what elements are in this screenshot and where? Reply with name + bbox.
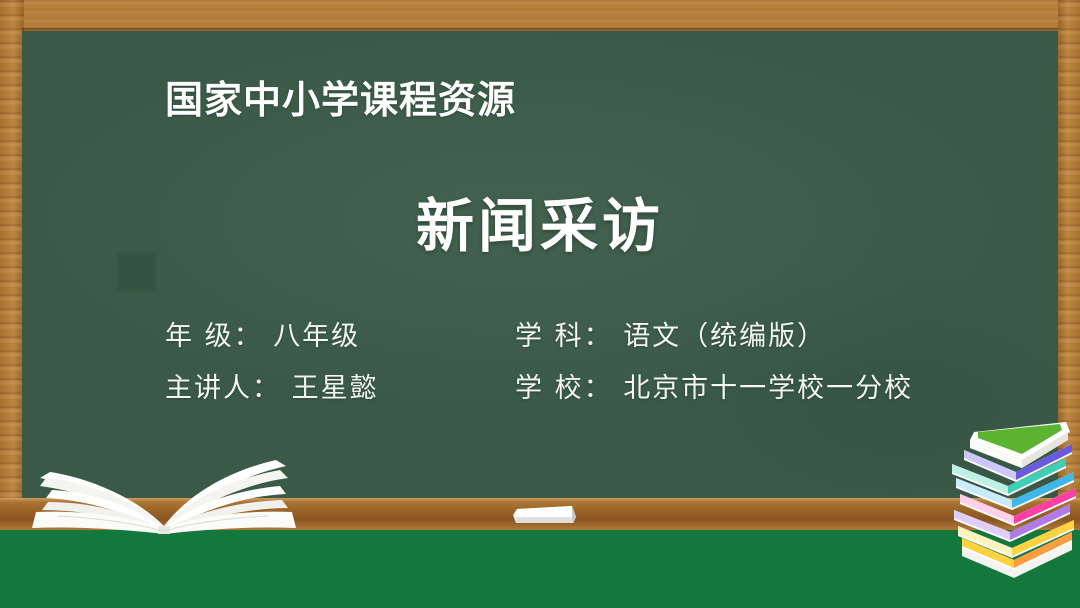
meta-grade: 年 级： 八年级 <box>165 311 515 363</box>
open-book-illustration <box>18 438 308 534</box>
meta-row-lecturer-school: 主讲人： 王星懿 学 校： 北京市十一学校一分校 <box>165 363 1025 415</box>
meta-subject-label: 学 <box>515 311 544 363</box>
meta-school-value: 北京市十一学校一分校 <box>623 373 913 404</box>
meta-grade-value: 八年级 <box>273 321 360 352</box>
stacked-books-illustration <box>948 418 1080 580</box>
meta-subject-value: 语文（统编版） <box>623 321 826 352</box>
meta-lecturer: 主讲人： 王星懿 <box>165 363 515 415</box>
course-meta-block: 年 级： 八年级 学 科： 语文（统编版） 主讲人： 王星懿 <box>165 311 1025 415</box>
meta-grade-label: 年 <box>165 311 194 363</box>
meta-grade-label-tail: 级： <box>205 321 263 352</box>
page-title: 新闻采访 <box>22 179 1058 263</box>
meta-school: 学 校： 北京市十一学校一分校 <box>515 363 1025 415</box>
brand-heading: 国家中小学课程资源 <box>165 69 516 124</box>
meta-lecturer-value: 王星懿 <box>292 373 379 404</box>
meta-school-label-tail: 校： <box>555 373 613 404</box>
chalkboard-surface: 国家中小学课程资源 新闻采访 年 级： 八年级 学 科： 语文（统编版） <box>22 31 1058 501</box>
meta-school-label: 学 <box>515 363 544 415</box>
presentation-slide: 国家中小学课程资源 新闻采访 年 级： 八年级 学 科： 语文（统编版） <box>0 0 1080 608</box>
meta-lecturer-label: 主讲人： <box>165 363 281 415</box>
bottom-green-band <box>0 530 1080 608</box>
meta-row-grade-subject: 年 级： 八年级 学 科： 语文（统编版） <box>165 311 1025 363</box>
meta-subject-label-tail: 科： <box>555 321 613 352</box>
meta-subject: 学 科： 语文（统编版） <box>515 311 1025 363</box>
chalkboard-eraser-icon <box>512 503 578 525</box>
